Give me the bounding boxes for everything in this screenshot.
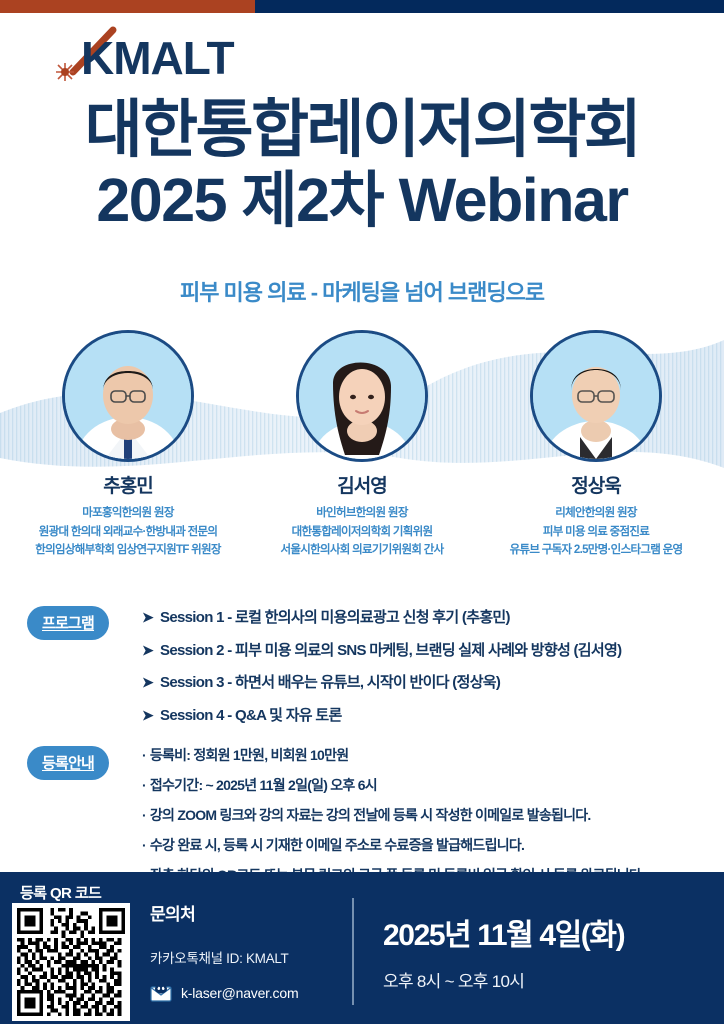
top-bar-orange-segment (0, 0, 255, 13)
speakers-section: 추홍민 마포홍익한의원 원장 원광대 한의대 외래교수·한방내과 전문의 한의임… (0, 330, 724, 580)
program-session-item: ➤ Session 2 - 피부 미용 의료의 SNS 마케팅, 브랜딩 실제 … (142, 641, 724, 661)
title-block: 대한통합레이저의학회 2025 제2차 Webinar (0, 96, 724, 234)
registration-info-text: 수강 완료 시, 등록 시 기재한 이메일 주소로 수료증을 발급해드립니다. (150, 837, 524, 853)
top-accent-bar (0, 0, 724, 13)
registration-section: 등록안내 ·등록비: 정회원 1만원, 비회원 10만원 ·접수기간: ~ 20… (27, 746, 717, 780)
registration-info-item: ·접수기간: ~ 2025년 11월 2일(일) 오후 6시 (142, 776, 724, 795)
speaker-name: 정상욱 (476, 471, 716, 498)
speaker-card: 김서영 바인허브한의원 원장 대한통합레이저의학회 기획위원 서울시한의사회 의… (242, 330, 482, 560)
footer-divider (352, 898, 354, 1005)
arrow-right-icon: ➤ (142, 641, 153, 660)
kakao-channel-id: 카카오톡채널 ID: KMALT (150, 947, 330, 967)
registration-label-pill: 등록안내 (27, 746, 109, 780)
speaker-name: 추홍민 (8, 471, 248, 498)
svg-text:KMALT: KMALT (81, 32, 234, 84)
bullet-dot-icon: · (142, 807, 146, 823)
qr-code-label: 등록 QR 코드 (20, 882, 101, 903)
email-icon (150, 984, 172, 1002)
speaker-role: 서울시한의사회 의료기기위원회 간사 (242, 541, 482, 560)
contact-email-row[interactable]: k-laser@naver.com (150, 984, 330, 1002)
speaker-photo (530, 330, 662, 462)
speaker-role: 바인허브한의원 원장 (242, 504, 482, 523)
registration-info-text: 등록비: 정회원 1만원, 비회원 10만원 (150, 747, 348, 763)
speaker-roles: 마포홍익한의원 원장 원광대 한의대 외래교수·한방내과 전문의 한의임상해부학… (8, 504, 248, 560)
program-session-text: Session 4 - Q&A 및 자유 토론 (160, 706, 342, 726)
bullet-dot-icon: · (142, 837, 146, 853)
speaker-portrait-icon (299, 333, 425, 459)
program-session-item: ➤ Session 3 - 하면서 배우는 유튜브, 시작이 반이다 (정상욱) (142, 673, 724, 693)
speaker-card: 정상욱 리체안한의원 원장 피부 미용 의료 중점진료 유튜브 구독자 2.5만… (476, 330, 716, 560)
page-subtitle: 피부 미용 의료 - 마케팅을 넘어 브랜딩으로 (0, 275, 724, 307)
event-date: 2025년 11월 4일(화) (383, 910, 624, 954)
speaker-role: 리체안한의원 원장 (476, 504, 716, 523)
event-date-block: 2025년 11월 4일(화) 오후 8시 ~ 오후 10시 (383, 910, 624, 992)
event-time: 오후 8시 ~ 오후 10시 (383, 967, 624, 992)
registration-info-text: 강의 ZOOM 링크와 강의 자료는 강의 전날에 등록 시 작성한 이메일로 … (150, 807, 591, 823)
speaker-portrait-icon (533, 333, 659, 459)
speaker-role: 대한통합레이저의학회 기획위원 (242, 523, 482, 542)
contact-block: 문의처 카카오톡채널 ID: KMALT k-laser@naver.com (150, 900, 330, 1002)
program-session-item: ➤ Session 1 - 로컬 한의사의 미용의료광고 신청 후기 (추홍민) (142, 608, 724, 628)
program-session-text: Session 3 - 하면서 배우는 유튜브, 시작이 반이다 (정상욱) (160, 673, 500, 693)
program-session-text: Session 2 - 피부 미용 의료의 SNS 마케팅, 브랜딩 실제 사례… (160, 641, 621, 661)
page-title-line1: 대한통합레이저의학회 (0, 96, 724, 164)
page-title-line2: 2025 제2차 Webinar (0, 166, 724, 234)
registration-info-item: ·등록비: 정회원 1만원, 비회원 10만원 (142, 746, 724, 765)
speaker-role: 원광대 한의대 외래교수·한방내과 전문의 (8, 523, 248, 542)
speaker-portrait-icon (65, 333, 191, 459)
arrow-right-icon: ➤ (142, 706, 153, 725)
program-session-list: ➤ Session 1 - 로컬 한의사의 미용의료광고 신청 후기 (추홍민)… (142, 608, 724, 738)
speaker-role: 피부 미용 의료 중점진료 (476, 523, 716, 542)
speaker-role: 마포홍익한의원 원장 (8, 504, 248, 523)
registration-info-item: ·수강 완료 시, 등록 시 기재한 이메일 주소로 수료증을 발급해드립니다. (142, 836, 724, 855)
qr-code-icon (17, 908, 125, 1016)
program-session-item: ➤ Session 4 - Q&A 및 자유 토론 (142, 706, 724, 726)
speaker-photo (62, 330, 194, 462)
program-label-pill: 프로그램 (27, 606, 109, 640)
registration-qr-code[interactable] (12, 903, 130, 1021)
speaker-name: 김서영 (242, 471, 482, 498)
speaker-roles: 리체안한의원 원장 피부 미용 의료 중점진료 유튜브 구독자 2.5만명·인스… (476, 504, 716, 560)
arrow-right-icon: ➤ (142, 673, 153, 692)
speaker-role: 유튜브 구독자 2.5만명·인스타그램 운영 (476, 541, 716, 560)
program-section: 프로그램 ➤ Session 1 - 로컬 한의사의 미용의료광고 신청 후기 … (27, 606, 707, 640)
program-session-text: Session 1 - 로컬 한의사의 미용의료광고 신청 후기 (추홍민) (160, 608, 510, 628)
bullet-dot-icon: · (142, 747, 146, 763)
top-bar-navy-segment (255, 0, 724, 13)
speaker-roles: 바인허브한의원 원장 대한통합레이저의학회 기획위원 서울시한의사회 의료기기위… (242, 504, 482, 560)
footer-bar: 등록 QR 코드 (0, 872, 724, 1024)
contact-email-text: k-laser@naver.com (181, 985, 298, 1001)
speaker-photo (296, 330, 428, 462)
poster-root: KMALT 대한통합레이저의학회 2025 제2차 Webinar 피부 미용 … (0, 0, 724, 1024)
kmalt-logo: KMALT (45, 24, 285, 86)
bullet-dot-icon: · (142, 777, 146, 793)
kmalt-logo-icon: KMALT (45, 24, 285, 86)
arrow-right-icon: ➤ (142, 608, 153, 627)
contact-title: 문의처 (150, 900, 330, 925)
speaker-card: 추홍민 마포홍익한의원 원장 원광대 한의대 외래교수·한방내과 전문의 한의임… (8, 330, 248, 560)
registration-info-text: 접수기간: ~ 2025년 11월 2일(일) 오후 6시 (150, 777, 377, 793)
registration-info-item: ·강의 ZOOM 링크와 강의 자료는 강의 전날에 등록 시 작성한 이메일로… (142, 806, 724, 825)
speaker-role: 한의임상해부학회 임상연구지원TF 위원장 (8, 541, 248, 560)
